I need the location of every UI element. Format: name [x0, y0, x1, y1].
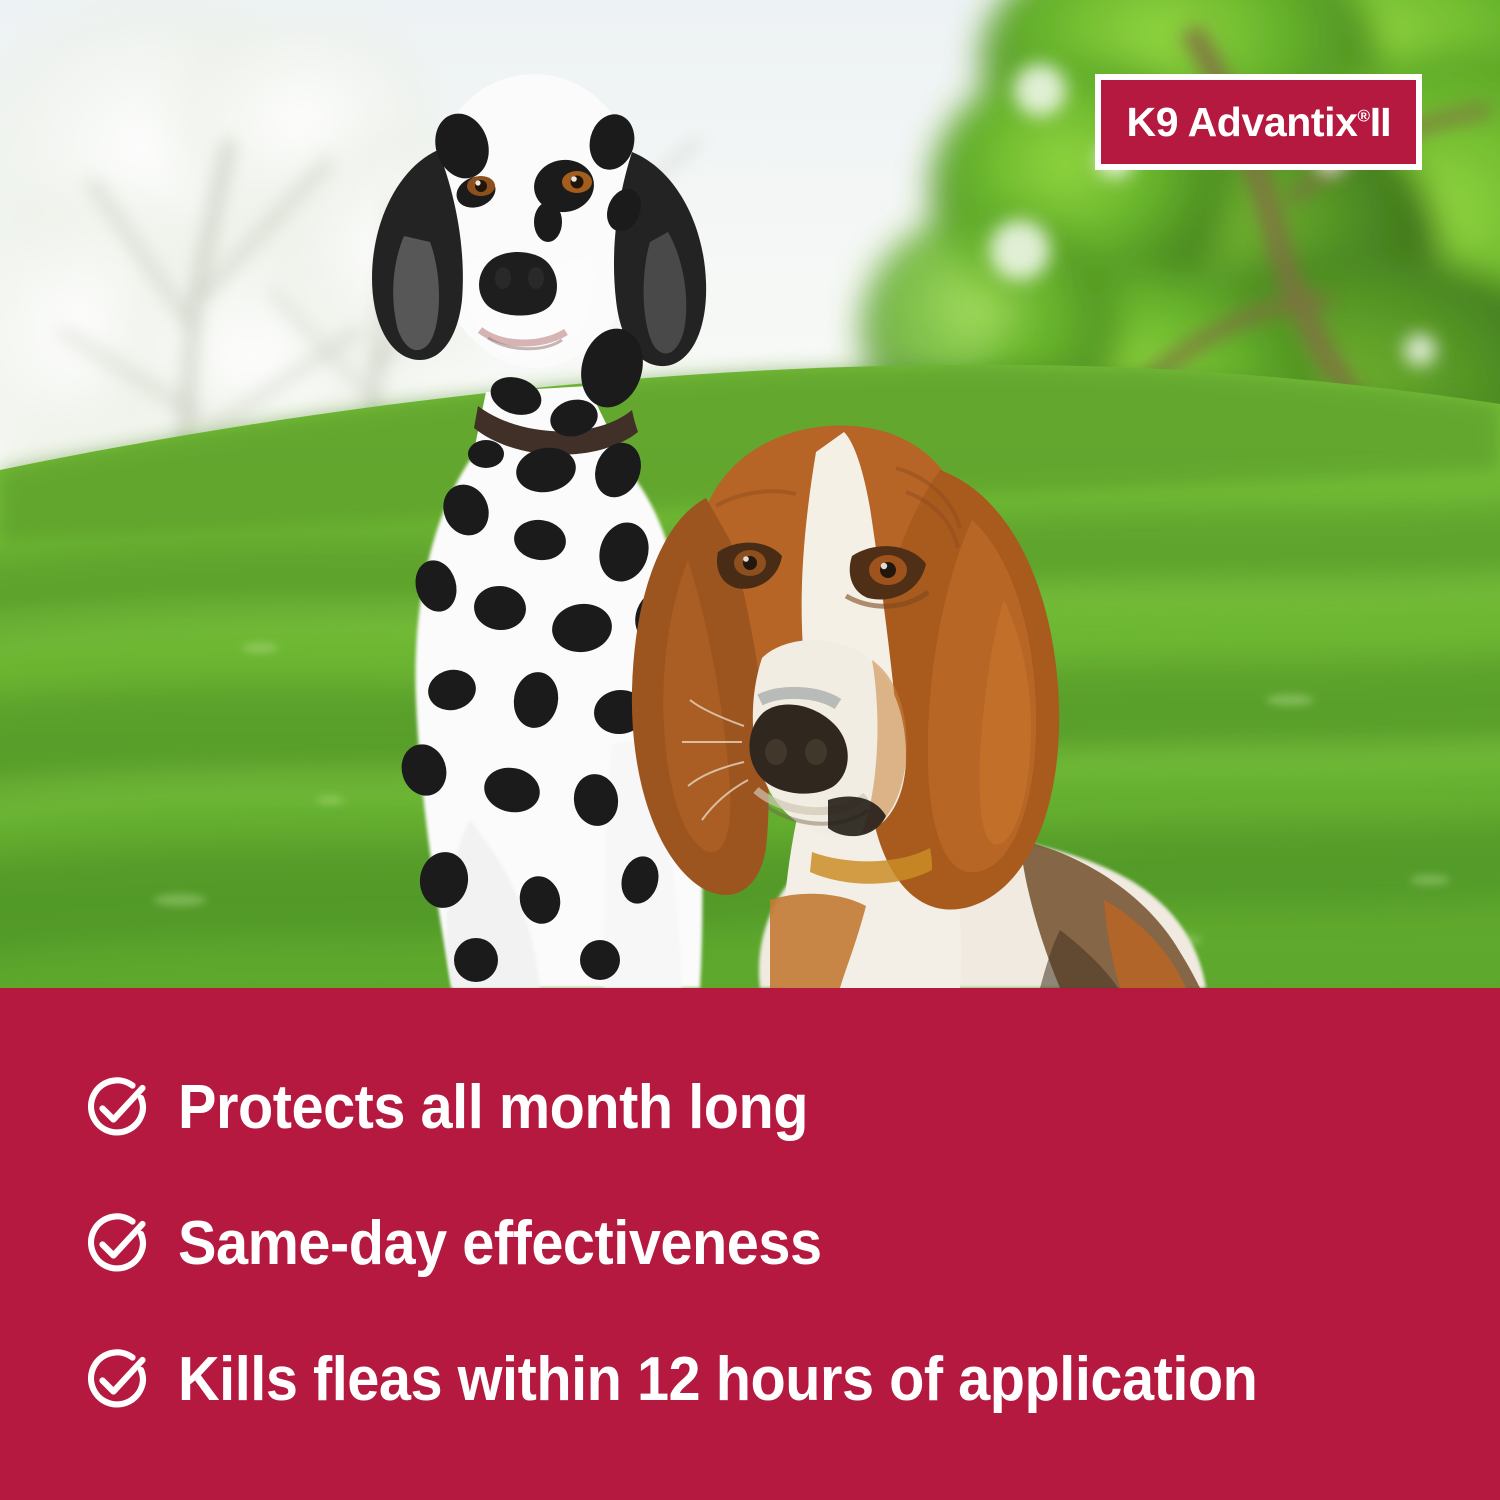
check-circle-icon	[80, 1071, 154, 1145]
benefit-label: Kills fleas within 12 hours of applicati…	[178, 1343, 1257, 1417]
benefit-item-protects-all-month-long: Protects all month long	[80, 1060, 855, 1156]
check-circle-icon	[80, 1207, 154, 1281]
benefits-list: Protects all month long Same-day effecti…	[0, 0, 1500, 512]
benefit-item-same-day-effectiveness: Same-day effectiveness	[80, 1196, 870, 1292]
product-marketing-image: K9 Advantix®II Protects all month long S…	[0, 0, 1500, 1500]
benefit-label: Same-day effectiveness	[178, 1207, 822, 1281]
benefit-item-kills-fleas-within-12-hours: Kills fleas within 12 hours of applicati…	[80, 1332, 1339, 1428]
benefit-label: Protects all month long	[178, 1071, 808, 1145]
check-circle-icon	[80, 1343, 154, 1417]
